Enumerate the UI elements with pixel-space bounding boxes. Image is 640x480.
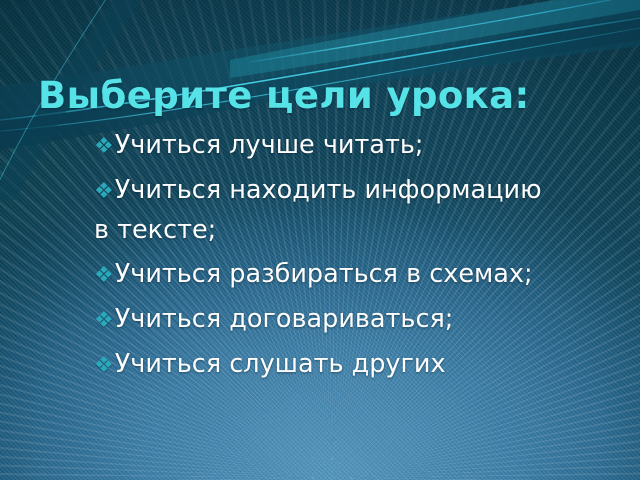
goals-bullet-list: ❖Учиться лучше читать; ❖Учиться находить… [94,126,564,390]
list-item: ❖Учиться слушать других [94,345,564,385]
list-item-label: Учиться находить информацию в тексте; [94,175,542,245]
diamond-cluster-bullet-icon: ❖ [94,353,114,378]
list-item-label: Учиться слушать других [115,349,446,379]
diamond-cluster-bullet-icon: ❖ [94,308,114,333]
slide-content: Выберите цели урока: ❖Учиться лучше чита… [0,0,640,480]
diamond-cluster-bullet-icon: ❖ [94,134,114,159]
list-item: ❖Учиться находить информацию в тексте; [94,171,564,250]
list-item-label: Учиться разбираться в схемах; [115,259,533,289]
diamond-cluster-bullet-icon: ❖ [94,179,114,204]
diamond-cluster-bullet-icon: ❖ [94,263,114,288]
list-item-label: Учиться лучше читать; [115,130,424,160]
slide-title: Выберите цели урока: [38,74,530,117]
presentation-slide: Выберите цели урока: ❖Учиться лучше чита… [0,0,640,480]
list-item: ❖Учиться разбираться в схемах; [94,255,564,295]
list-item-label: Учиться договариваться; [115,304,454,334]
list-item: ❖Учиться договариваться; [94,300,564,340]
list-item: ❖Учиться лучше читать; [94,126,564,166]
